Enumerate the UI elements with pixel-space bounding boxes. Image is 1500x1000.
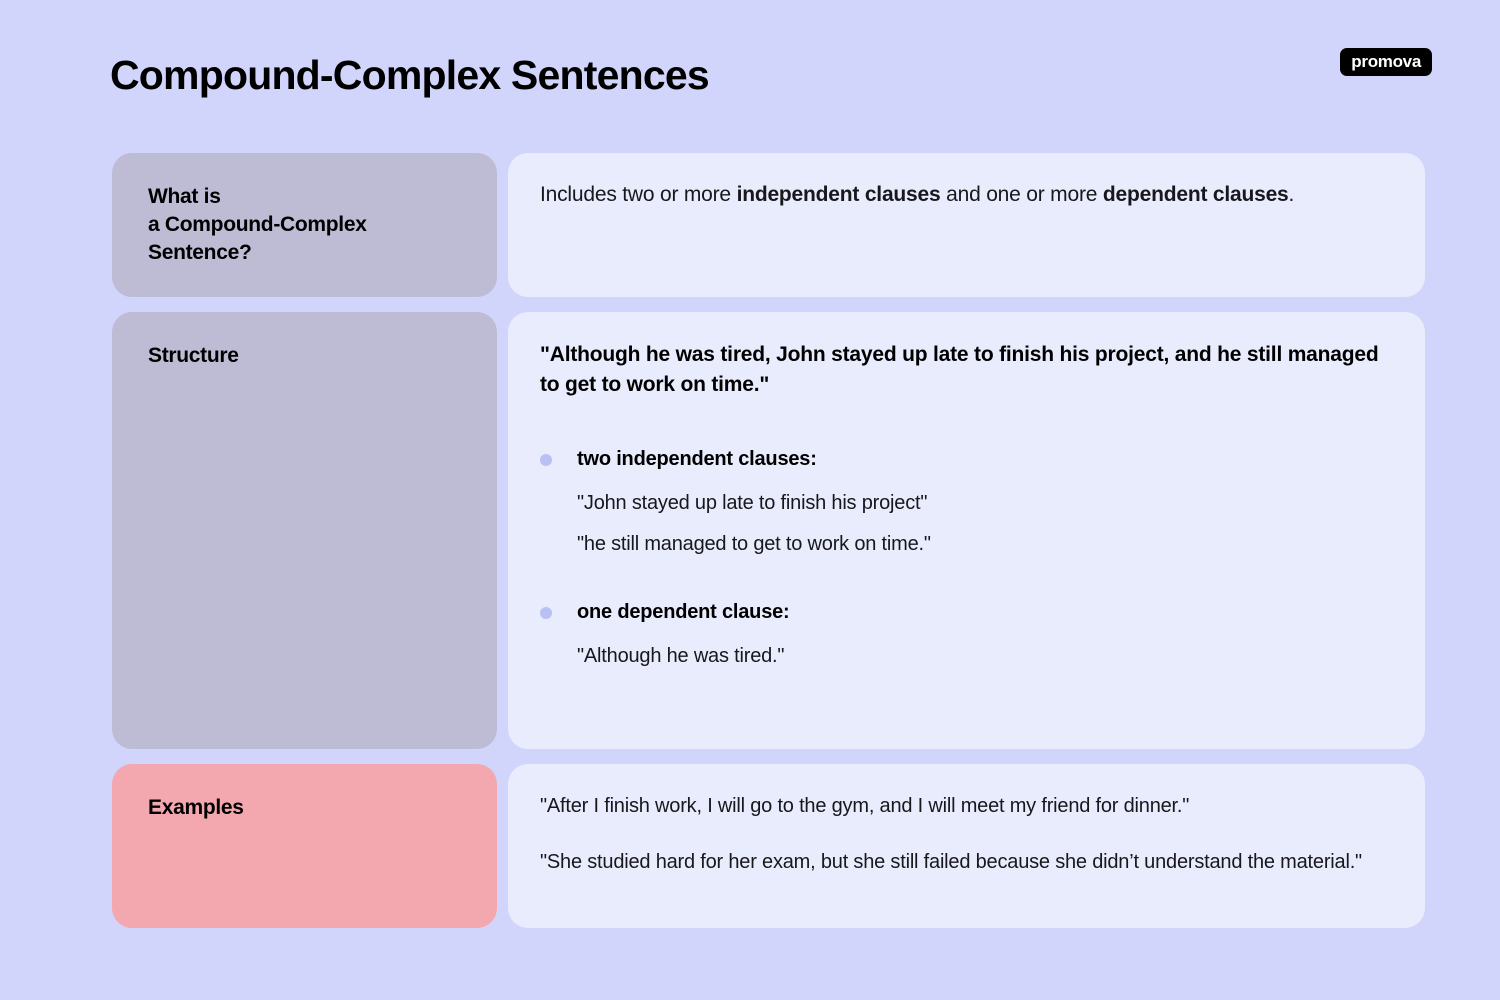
bullet-group-dependent: one dependent clause: "Although he was t… [540,598,1391,670]
promova-logo: promova [1340,48,1432,76]
example-line-1: "After I finish work, I will go to the g… [540,792,1391,820]
label-card-examples: Examples [112,764,497,928]
label-card-structure: Structure [112,312,497,749]
content-card-definition: Includes two or more independent clauses… [508,153,1425,297]
bullet-head-dependent: one dependent clause: [540,598,1391,626]
bullet-label-independent: two independent clauses: [577,445,817,473]
table-row-examples: Examples "After I finish work, I will go… [112,764,1425,928]
content-card-structure: "Although he was tired, John stayed up l… [508,312,1425,749]
definition-text: Includes two or more independent clauses… [540,181,1391,210]
bullet-item-independent-2: "he still managed to get to work on time… [577,530,1391,558]
definition-label: What is a Compound-Complex Sentence? [148,183,463,267]
bullet-dot-icon [540,454,552,466]
bullet-head-independent: two independent clauses: [540,445,1391,473]
table-row-structure: Structure "Although he was tired, John s… [112,312,1425,749]
bullet-item-independent-1: "John stayed up late to finish his proje… [577,489,1391,517]
bullet-group-independent: two independent clauses: "John stayed up… [540,445,1391,558]
definition-bold-dependent: dependent clauses [1103,183,1289,206]
structure-label: Structure [148,342,463,370]
bullet-dot-icon [540,607,552,619]
label-card-definition: What is a Compound-Complex Sentence? [112,153,497,297]
definition-text-part3: . [1289,183,1295,206]
structure-main-quote: "Although he was tired, John stayed up l… [540,340,1380,400]
logo-text: promova [1351,53,1421,70]
bullet-label-dependent: one dependent clause: [577,598,790,626]
example-line-2: "She studied hard for her exam, but she … [540,848,1391,876]
page-header: Compound-Complex Sentences promova [0,0,1500,148]
definition-bold-independent: independent clauses [737,183,941,206]
content-card-examples: "After I finish work, I will go to the g… [508,764,1425,928]
definition-text-part2: and one or more [941,183,1103,206]
page-title: Compound-Complex Sentences [110,52,709,99]
table-row-definition: What is a Compound-Complex Sentence? Inc… [112,153,1425,297]
info-table: What is a Compound-Complex Sentence? Inc… [112,153,1425,928]
bullet-item-dependent-1: "Although he was tired." [577,642,1391,670]
examples-label: Examples [148,794,463,822]
definition-text-part1: Includes two or more [540,183,737,206]
